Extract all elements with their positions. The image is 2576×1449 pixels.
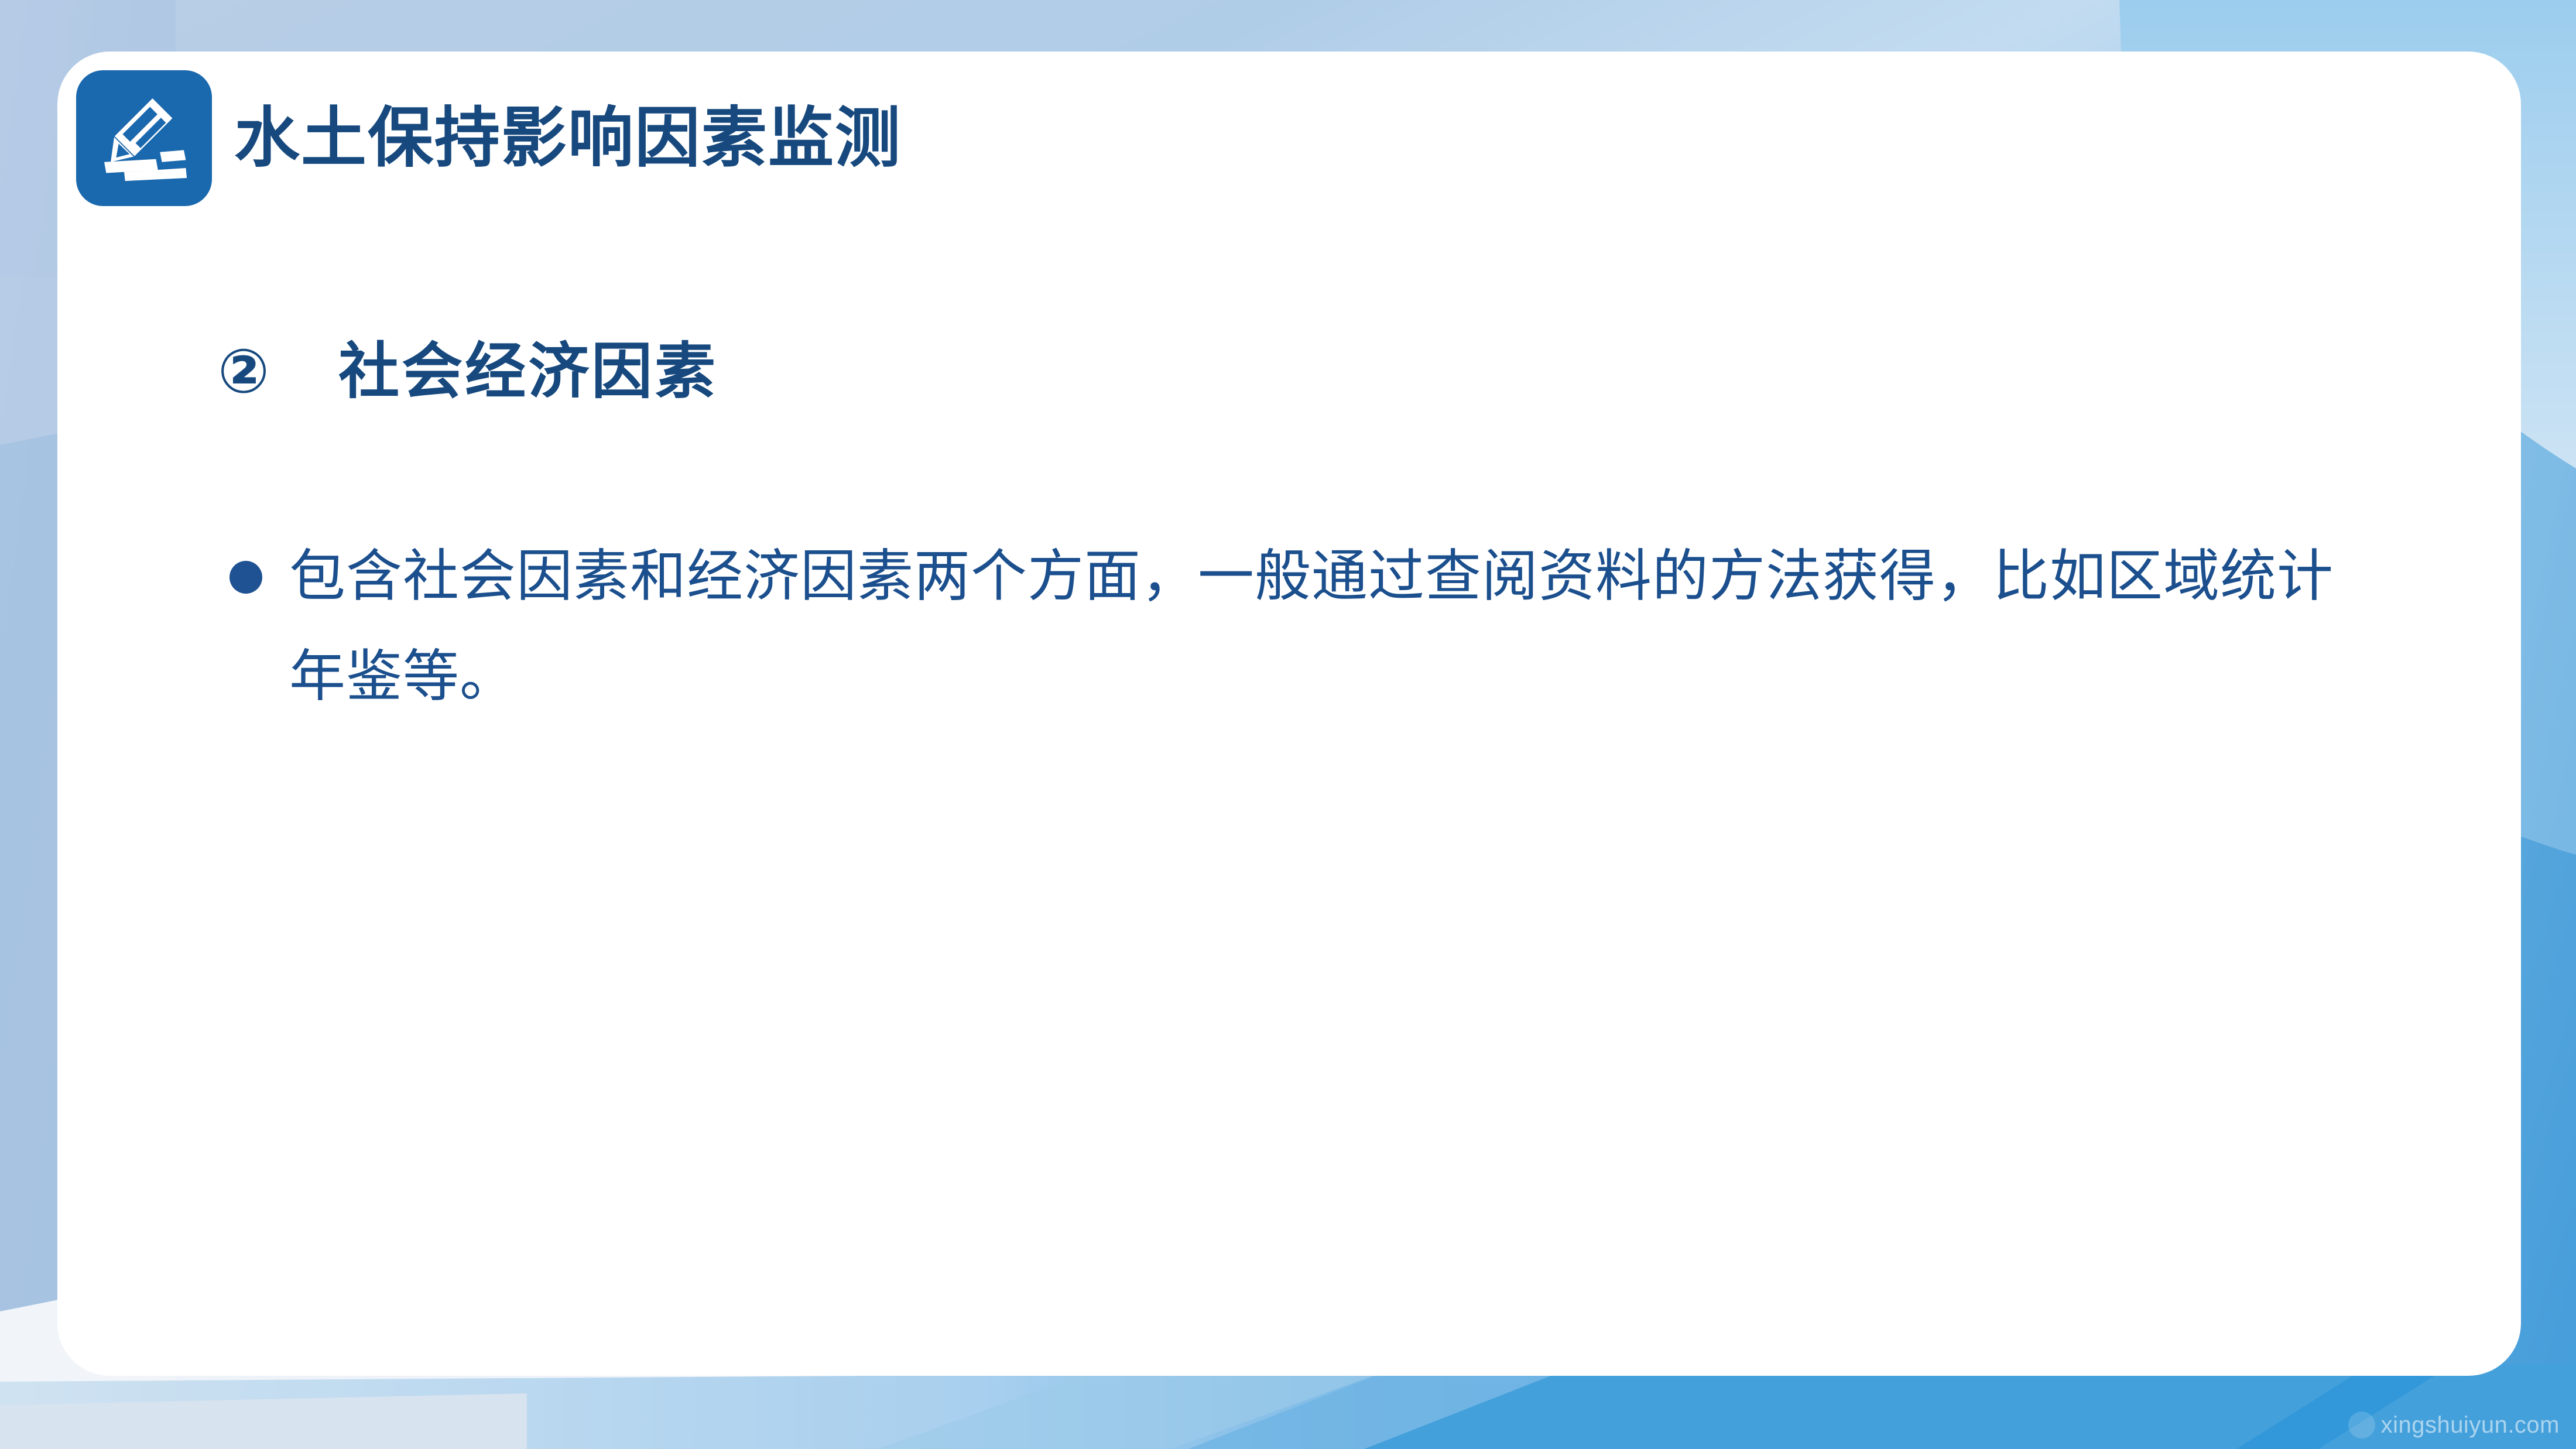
page-title: 水土保持影响因素监测 bbox=[234, 105, 902, 171]
section-subheading: ② 社会经济因素 bbox=[218, 341, 718, 402]
pencil-writing-icon bbox=[76, 70, 212, 206]
body-bullet-item: 包含社会因素和经济因素两个方面，一般通过查阅资料的方法获得，比如区域统计年鉴等。 bbox=[229, 527, 2384, 727]
watermark-text: xingshuiyun.com bbox=[2381, 1412, 2560, 1438]
slide-canvas: 水土保持影响因素监测 ② 社会经济因素 包含社会因素和经济因素两个方面，一般通过… bbox=[0, 0, 2576, 1449]
circled-number-marker: ② bbox=[218, 341, 269, 402]
bullet-paragraph: 包含社会因素和经济因素两个方面，一般通过查阅资料的方法获得，比如区域统计年鉴等。 bbox=[289, 527, 2368, 727]
slide-header: 水土保持影响因素监测 bbox=[76, 70, 902, 206]
subheading-label: 社会经济因素 bbox=[338, 341, 718, 402]
watermark: xingshuiyun.com bbox=[2348, 1412, 2560, 1438]
bullet-dot-icon bbox=[229, 561, 262, 594]
watermark-logo-mark bbox=[2348, 1412, 2375, 1438]
